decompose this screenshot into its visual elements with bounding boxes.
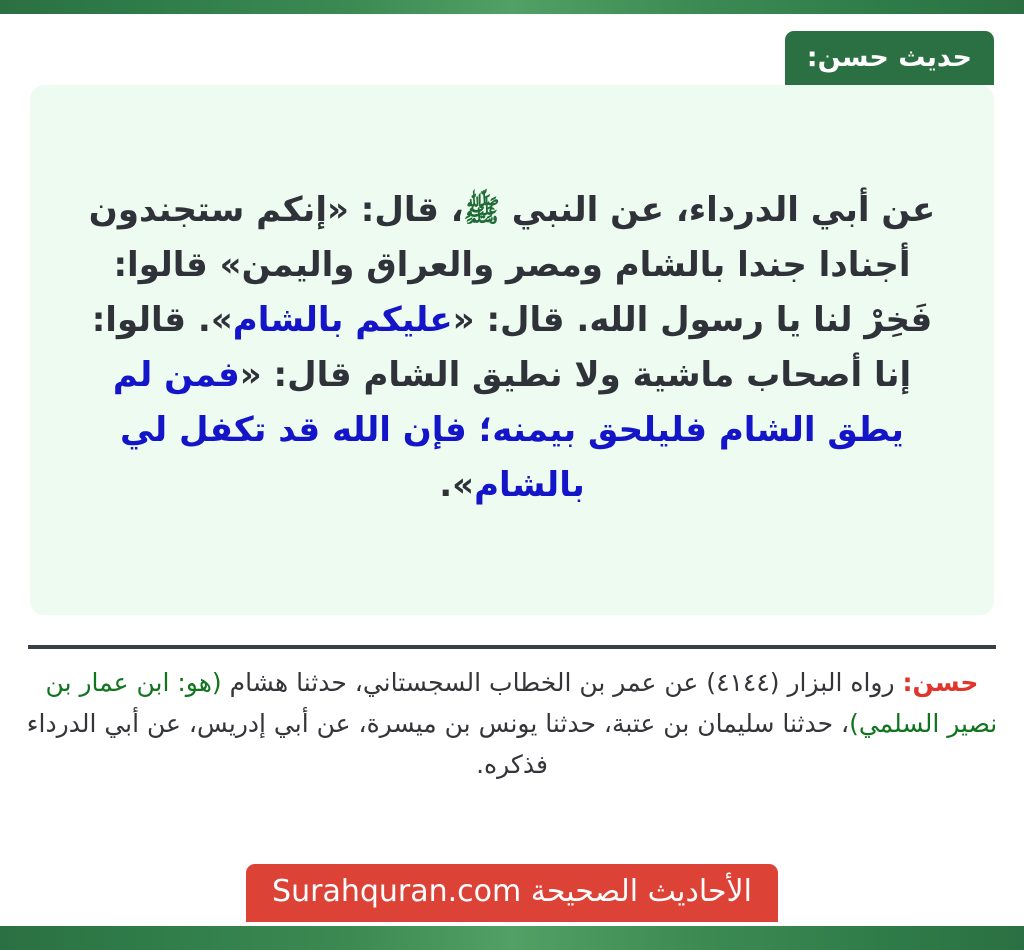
badge-row: حديث حسن: (0, 31, 1024, 85)
text-run-blue: عليكم بالشام (233, 300, 453, 340)
site-footer-badge[interactable]: الأحاديث الصحيحة Surahquran.com (246, 864, 778, 922)
text-run-grade: حسن: (902, 668, 978, 697)
text-run-normal: عن أبي الدرداء، عن النبي (500, 190, 935, 230)
hadith-text: عن أبي الدرداء، عن النبي ﷺ، قال: «إنكم س… (74, 183, 950, 513)
bottom-gradient-bar (0, 926, 1024, 950)
text-run-normal: رواه البزار (٤١٤٤) عن عمر بن الخطاب السج… (222, 668, 903, 697)
text-run-sallam: ﷺ (464, 194, 500, 229)
hadith-grade-badge: حديث حسن: (785, 31, 994, 85)
section-divider (28, 645, 996, 649)
footer-row: الأحاديث الصحيحة Surahquran.com (0, 864, 1024, 922)
text-run-normal: ، حدثنا سليمان بن عتبة، حدثنا يونس بن مي… (27, 709, 849, 779)
hadith-source-attribution: حسن: رواه البزار (٤١٤٤) عن عمر بن الخطاب… (22, 662, 1002, 785)
top-gradient-bar (0, 0, 1024, 14)
hadith-card: عن أبي الدرداء، عن النبي ﷺ، قال: «إنكم س… (30, 85, 994, 615)
text-run-normal: ». (439, 465, 474, 505)
